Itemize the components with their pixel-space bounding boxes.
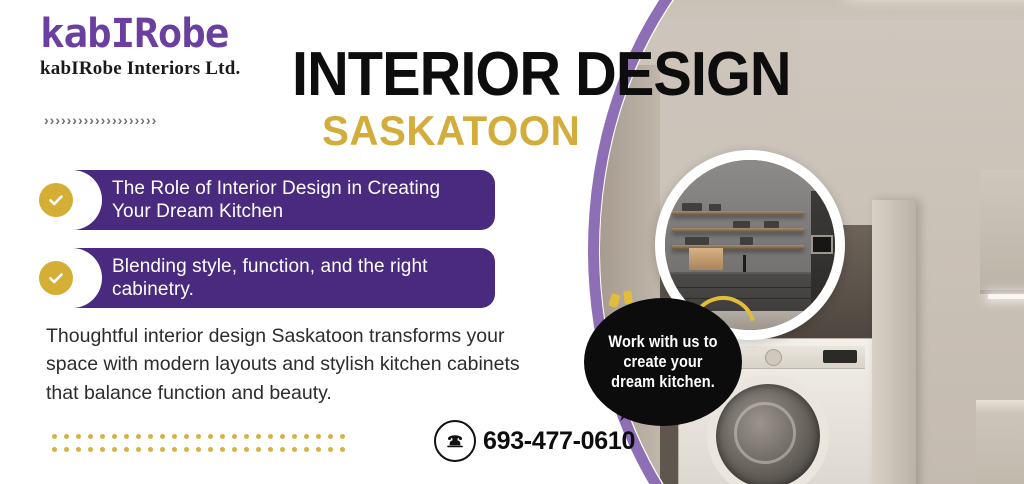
- dot: [340, 434, 345, 439]
- dot: [196, 434, 201, 439]
- open-cabinet-door: [872, 200, 916, 484]
- dot: [172, 447, 177, 452]
- phone-number: 693-477-0610: [483, 427, 635, 456]
- countertop: [976, 400, 1024, 414]
- dot: [52, 447, 57, 452]
- dot: [196, 447, 201, 452]
- dot: [64, 434, 69, 439]
- dot-grid-decoration: [48, 430, 348, 456]
- dot: [184, 447, 189, 452]
- wood-panel: [689, 248, 723, 270]
- dot: [136, 434, 141, 439]
- check-icon: [39, 261, 73, 295]
- dot: [280, 447, 285, 452]
- bullet-text: Blending style, function, and the right …: [102, 248, 495, 308]
- shelf-item: [709, 204, 721, 211]
- dot: [256, 434, 261, 439]
- dot: [292, 447, 297, 452]
- bullet-icon-notch: [0, 248, 102, 308]
- contact-phone[interactable]: 693-477-0610: [434, 420, 635, 462]
- dot: [172, 434, 177, 439]
- callout-text: Work with us to create your dream kitche…: [593, 332, 732, 392]
- shelf-item: [733, 221, 750, 228]
- dot: [124, 447, 129, 452]
- cabinet-line: [665, 287, 815, 288]
- dot: [124, 434, 129, 439]
- shelf-item: [685, 237, 709, 246]
- dot: [328, 447, 333, 452]
- page-title: INTERIOR DESIGN: [292, 46, 791, 103]
- dot: [340, 447, 345, 452]
- dot: [304, 447, 309, 452]
- dot: [232, 434, 237, 439]
- brand-logo[interactable]: kabIRobe kabIRobe Interiors Ltd.: [40, 14, 270, 80]
- dot: [304, 434, 309, 439]
- dot: [160, 447, 165, 452]
- dot: [292, 434, 297, 439]
- dot: [88, 434, 93, 439]
- telephone-icon: [434, 420, 476, 462]
- callout-bubble[interactable]: Work with us to create your dream kitche…: [584, 298, 742, 426]
- washer-dial: [765, 349, 782, 366]
- dot: [112, 434, 117, 439]
- dot: [220, 434, 225, 439]
- dot: [64, 447, 69, 452]
- bullet-text: The Role of Interior Design in Creating …: [102, 170, 495, 230]
- interior-design-banner: kabIRobe kabIRobe Interiors Ltd. ›››››››…: [0, 0, 1024, 484]
- washer-display: [823, 350, 857, 363]
- dot: [316, 434, 321, 439]
- ceiling: [600, 0, 1024, 20]
- dot: [88, 447, 93, 452]
- lower-cabinets: [976, 414, 1024, 484]
- dot: [328, 434, 333, 439]
- logo-subtitle: kabIRobe Interiors Ltd.: [40, 58, 270, 80]
- dot: [76, 434, 81, 439]
- shelf-item: [764, 221, 779, 228]
- under-cabinet-light: [988, 294, 1024, 299]
- dot: [160, 434, 165, 439]
- shelf-item: [682, 203, 702, 212]
- dot: [136, 447, 141, 452]
- dot: [268, 447, 273, 452]
- dot: [244, 434, 249, 439]
- dot: [208, 447, 213, 452]
- kitchen-shelf: [672, 211, 805, 215]
- bullet-icon-notch: [0, 170, 102, 230]
- dot: [76, 447, 81, 452]
- logo-wordmark: kabIRobe: [40, 14, 275, 54]
- built-in-oven: [811, 235, 834, 254]
- check-icon: [39, 183, 73, 217]
- page-subtitle: SASKATOON: [322, 110, 580, 152]
- dot: [148, 447, 153, 452]
- bullet-item-2: Blending style, function, and the right …: [0, 248, 495, 308]
- dot: [112, 447, 117, 452]
- shelf-item: [740, 237, 754, 246]
- dot: [208, 434, 213, 439]
- cabinet-line: [665, 298, 815, 299]
- dot: [280, 434, 285, 439]
- dot: [184, 434, 189, 439]
- dot: [316, 447, 321, 452]
- dot: [268, 434, 273, 439]
- dot: [148, 434, 153, 439]
- chevron-divider: ››››››››››››››››››››: [44, 112, 157, 128]
- body-paragraph: Thoughtful interior design Saskatoon tra…: [46, 322, 536, 407]
- dot: [220, 447, 225, 452]
- dot: [232, 447, 237, 452]
- kitchen-shelf: [672, 228, 805, 232]
- dot: [256, 447, 261, 452]
- upper-cabinets: [980, 170, 1024, 294]
- dot: [100, 447, 105, 452]
- dot: [244, 447, 249, 452]
- dot: [52, 434, 57, 439]
- dot: [100, 434, 105, 439]
- bullet-item-1: The Role of Interior Design in Creating …: [0, 170, 495, 230]
